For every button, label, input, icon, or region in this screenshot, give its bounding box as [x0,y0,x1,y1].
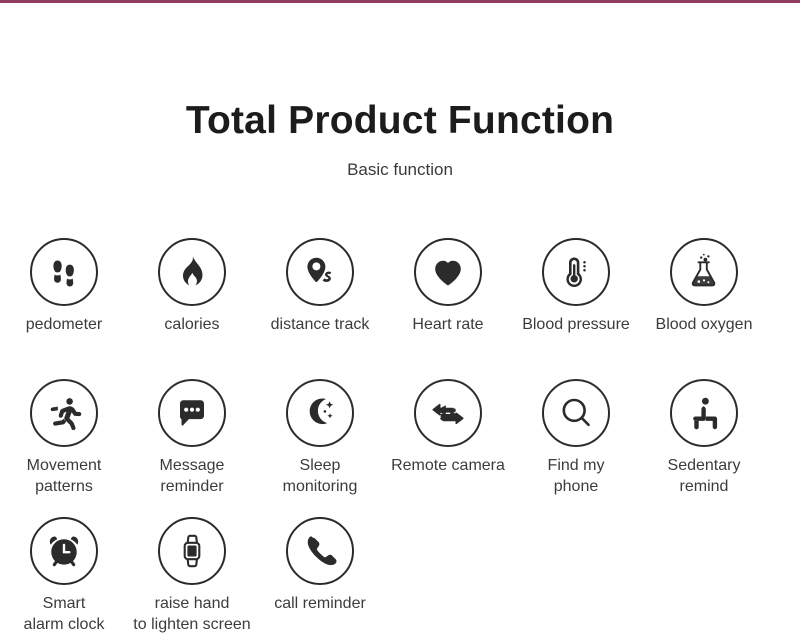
running-person-icon [30,379,98,447]
flask-icon [670,238,738,306]
feature-label: Blood oxygen [656,314,753,335]
magnifier-icon [542,379,610,447]
feature-item-message-reminder[interactable]: Message reminder [128,379,256,497]
feature-item-call-reminder[interactable]: call reminder [256,517,384,635]
map-pin-route-icon [286,238,354,306]
feature-label: Remote camera [391,455,505,476]
feature-item-blood-oxygen[interactable]: Blood oxygen [640,238,768,335]
feature-label: calories [164,314,219,335]
feature-label: Sleep monitoring [283,455,358,497]
product-function-poster: Total Product Function Basic function pe… [0,0,800,643]
alarm-clock-icon [30,517,98,585]
feature-item-raise-hand-to-lighten-screen[interactable]: raise hand to lighten screen [128,517,256,635]
feature-row-1: pedometer calories distance track Heart … [0,238,800,335]
two-way-arrows-icon [414,379,482,447]
feature-item-heart-rate[interactable]: Heart rate [384,238,512,335]
feature-label: distance track [271,314,370,335]
feature-label: raise hand to lighten screen [133,593,250,635]
feature-item-sleep-monitoring[interactable]: Sleep monitoring [256,379,384,497]
heart-icon [414,238,482,306]
feature-item-pedometer[interactable]: pedometer [0,238,128,335]
feature-item-smart-alarm-clock[interactable]: Smart alarm clock [0,517,128,635]
feature-label: Smart alarm clock [24,593,105,635]
feature-label: call reminder [274,593,366,614]
seated-person-icon [670,379,738,447]
moon-stars-icon [286,379,354,447]
feature-label: Movement patterns [27,455,102,497]
page-title: Total Product Function [0,97,800,145]
thermometer-icon [542,238,610,306]
feature-label: pedometer [26,314,103,335]
speech-bubble-icon [158,379,226,447]
feature-row-3: Smart alarm clock raise hand to lighten … [0,517,800,635]
page-subtitle: Basic function [0,158,800,182]
top-accent-rule [0,0,800,3]
feature-item-find-my-phone[interactable]: Find my phone [512,379,640,497]
feature-item-distance-track[interactable]: distance track [256,238,384,335]
feature-item-blood-pressure[interactable]: Blood pressure [512,238,640,335]
smartwatch-icon [158,517,226,585]
feature-label: Sedentary remind [668,455,741,497]
feature-item-remote-camera[interactable]: Remote camera [384,379,512,497]
footprints-icon [30,238,98,306]
feature-item-sedentary-remind[interactable]: Sedentary remind [640,379,768,497]
feature-item-calories[interactable]: calories [128,238,256,335]
feature-label: Heart rate [412,314,483,335]
feature-item-movement-patterns[interactable]: Movement patterns [0,379,128,497]
feature-label: Blood pressure [522,314,630,335]
phone-handset-icon [286,517,354,585]
flame-icon [158,238,226,306]
feature-label: Message reminder [160,455,225,497]
feature-label: Find my phone [548,455,605,497]
feature-row-2: Movement patterns Message reminder Sleep… [0,379,800,497]
